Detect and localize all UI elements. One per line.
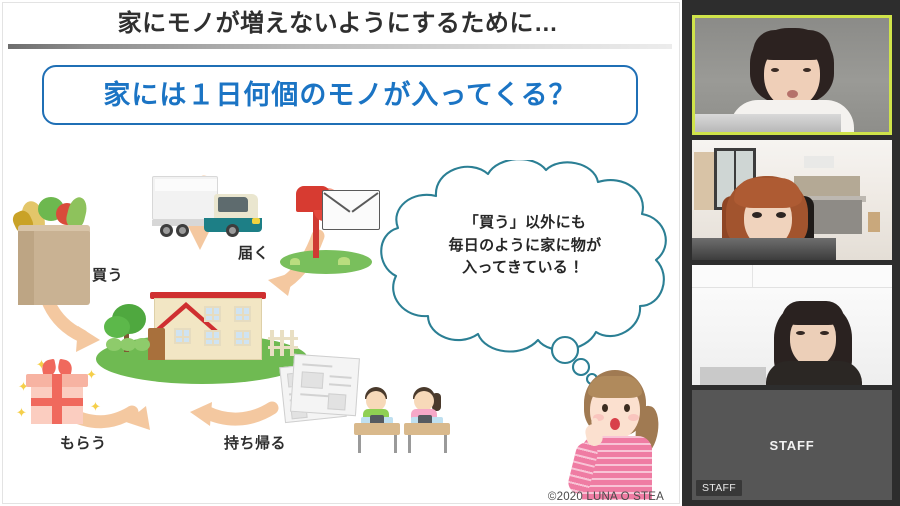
slide-title: 家にモノが増えないようにするために… — [0, 6, 676, 42]
participant-1-video — [695, 18, 889, 132]
house-illustration — [96, 272, 308, 388]
participant-3-video — [692, 265, 892, 385]
participant-2-video — [692, 140, 892, 260]
label-receive: もらう — [60, 432, 107, 453]
school-kids-illustration — [352, 385, 456, 455]
bubble-line-2: 毎日のように家に物が — [374, 235, 676, 258]
thought-bubble-text: 「買う」以外にも 毎日のように家に物が 入ってきている ！ — [374, 212, 676, 280]
copyright-notice: ©2020 LUNA O STEA — [548, 491, 664, 503]
label-bring-home: 持ち帰る — [224, 432, 286, 453]
grocery-bag-illustration — [12, 195, 98, 305]
envelope-icon — [322, 190, 380, 230]
headline-text: 家には１日何個のモノが入ってくる？ — [44, 67, 636, 123]
presentation-slide: 家にモノが増えないようにするために… 家には１日何個のモノが入ってくる？ — [0, 0, 682, 506]
video-tile-participant-4[interactable]: STAFF STAFF — [692, 390, 892, 500]
video-tile-participant-1[interactable] — [692, 15, 892, 135]
label-deliver: 届く — [238, 242, 269, 263]
video-tile-participant-3[interactable] — [692, 265, 892, 385]
video-tile-participant-2[interactable] — [692, 140, 892, 260]
headline-box: 家には１日何個のモノが入ってくる？ — [42, 65, 638, 125]
bubble-line-1: 「買う」以外にも — [374, 212, 676, 235]
gift-box-illustration: ✦ ✦ ✦ ✦ ✦ — [16, 352, 100, 428]
delivery-truck-illustration — [152, 172, 266, 248]
screen-share-view: 家にモノが増えないようにするために… 家には１日何個のモノが入ってくる？ — [0, 0, 900, 506]
thinking-girl-illustration — [566, 368, 672, 500]
bubble-line-3: 入ってきている ！ — [374, 257, 676, 280]
participant-name-badge: STAFF — [696, 480, 742, 496]
title-divider — [8, 44, 672, 49]
participant-video-strip: STAFF STAFF — [682, 0, 900, 506]
